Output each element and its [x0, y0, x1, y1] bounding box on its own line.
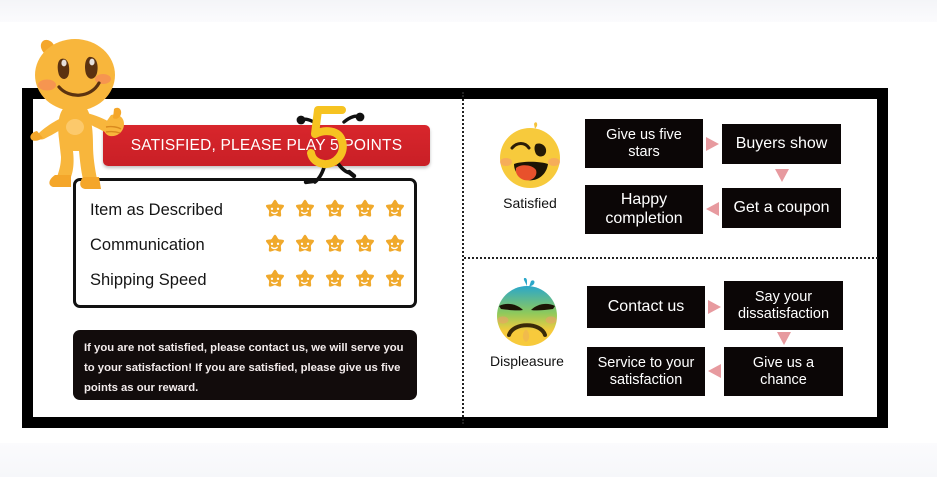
flow-step-satisfied-1[interactable]: Give us five stars	[585, 119, 703, 168]
star-icon	[322, 198, 348, 224]
star-icon	[292, 268, 318, 294]
satisfied-emoji-block: Satisfied	[484, 120, 576, 211]
arrow-left-icon	[708, 364, 721, 378]
star-icon	[352, 268, 378, 294]
arrow-down-icon	[777, 332, 791, 345]
flow-step-displeasure-4[interactable]: Service to your satisfaction	[587, 347, 705, 396]
star-icon	[262, 198, 288, 224]
rating-row: Communication	[90, 229, 406, 262]
rating-stars	[262, 198, 408, 224]
page-bottom-band	[0, 443, 937, 477]
winking-happy-face-icon	[494, 120, 566, 192]
star-icon	[292, 233, 318, 259]
displeasure-emoji-block: Displeasure	[481, 278, 573, 369]
arrow-left-icon	[706, 202, 719, 216]
displeasure-caption: Displeasure	[481, 353, 573, 369]
star-icon	[382, 268, 408, 294]
rating-stars	[262, 268, 408, 294]
rating-row: Shipping Speed	[90, 264, 406, 297]
arrow-down-icon	[775, 169, 789, 182]
star-icon	[262, 268, 288, 294]
rating-row: Item as Described	[90, 194, 406, 227]
flow-step-displeasure-3[interactable]: Give us a chance	[724, 347, 843, 396]
flow-step-satisfied-3[interactable]: Get a coupon	[722, 188, 841, 228]
satisfied-banner-text: SATISFIED, PLEASE PLAY 5 POINTS	[103, 125, 430, 166]
flow-step-satisfied-2[interactable]: Buyers show	[722, 124, 841, 164]
star-icon	[322, 268, 348, 294]
flow-step-satisfied-4[interactable]: Happy completion	[585, 185, 703, 234]
satisfied-banner: SATISFIED, PLEASE PLAY 5 POINTS	[103, 125, 430, 166]
rating-label: Communication	[90, 236, 205, 255]
satisfied-caption: Satisfied	[484, 195, 576, 211]
feedback-note: If you are not satisfied, please contact…	[73, 330, 417, 400]
running-number-five-icon	[295, 102, 365, 187]
star-icon	[382, 233, 408, 259]
star-icon	[262, 233, 288, 259]
rating-stars	[262, 233, 408, 259]
rating-label: Item as Described	[90, 201, 223, 220]
star-icon	[352, 198, 378, 224]
arrow-right-icon	[708, 300, 721, 314]
angry-sad-face-icon	[491, 278, 563, 350]
mascot-thumbs-up-icon	[17, 31, 137, 199]
star-icon	[352, 233, 378, 259]
star-icon	[292, 198, 318, 224]
page-top-band	[0, 0, 937, 22]
star-icon	[382, 198, 408, 224]
flow-step-displeasure-2[interactable]: Say your dissatisfaction	[724, 281, 843, 330]
feedback-note-text: If you are not satisfied, please contact…	[84, 338, 406, 398]
star-icon	[322, 233, 348, 259]
horizontal-dotted-divider	[464, 257, 878, 259]
flow-step-displeasure-1[interactable]: Contact us	[587, 286, 705, 328]
rating-label: Shipping Speed	[90, 271, 207, 290]
arrow-right-icon	[706, 137, 719, 151]
